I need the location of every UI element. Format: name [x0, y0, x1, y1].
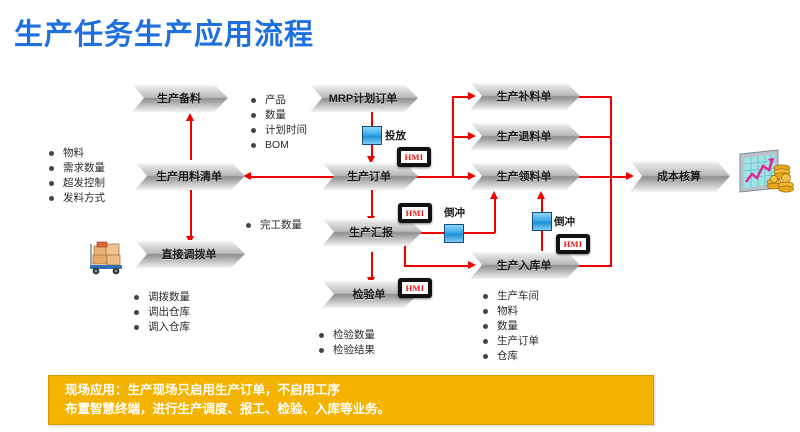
- connector-stockin-out: [578, 265, 612, 267]
- bullets-mrp-attributes: 产品 数量 计划时间 BOM: [250, 93, 307, 153]
- connector-right-bus: [610, 96, 612, 266]
- node-material-list[interactable]: 生产用料清单: [135, 162, 245, 190]
- list-item: 数量: [482, 319, 539, 334]
- hand-truck-boxes-icon: [88, 236, 130, 276]
- list-item: 检验数量: [318, 328, 375, 343]
- list-item: 物料: [482, 304, 539, 319]
- node-mrp-plan-order-label: MRP计划订单: [329, 90, 397, 106]
- hmi-terminal-icon-inspect[interactable]: HMI: [398, 278, 432, 298]
- hmi-label: HMI: [406, 283, 425, 293]
- node-return-form[interactable]: 生产退料单: [470, 122, 580, 150]
- list-item: BOM: [250, 138, 307, 153]
- hmi-terminal-icon-stockin[interactable]: HMI: [556, 234, 590, 254]
- node-production-order-label: 生产订单: [347, 168, 391, 184]
- connector-replenish-out: [578, 96, 612, 98]
- arrowhead-backflush1-to-pick: [490, 191, 498, 199]
- connector-backflush1-right: [462, 232, 495, 234]
- node-inspection-form-label: 检验单: [353, 286, 386, 302]
- arrowhead-bus-to-return: [468, 132, 476, 140]
- connector-bomlist-to-transfer: [190, 190, 192, 238]
- node-production-report-label: 生产汇报: [349, 224, 393, 240]
- slide-canvas: 生产任务生产应用流程 生产备料: [0, 0, 800, 432]
- node-return-form-label: 生产退料单: [497, 128, 552, 144]
- hmi-screen: HMI: [560, 238, 586, 250]
- list-item: 需求数量: [48, 161, 105, 176]
- arrowhead-bus-to-pick: [468, 172, 476, 180]
- node-pick-form[interactable]: 生产领料单: [470, 162, 580, 190]
- node-material-list-label: 生产用料清单: [156, 168, 222, 184]
- node-production-prep-label: 生产备料: [157, 90, 201, 106]
- page-title: 生产任务生产应用流程: [14, 18, 314, 52]
- backflush-label-2: 倒冲: [554, 214, 575, 229]
- hmi-screen: HMI: [402, 282, 428, 294]
- node-cost-accounting[interactable]: 成本核算: [630, 160, 730, 192]
- connector-pick-out: [578, 176, 612, 178]
- list-item: 发料方式: [48, 191, 105, 206]
- bullets-transfer-attributes: 调拨数量 调出仓库 调入仓库: [133, 290, 190, 335]
- list-item: 生产订单: [482, 334, 539, 349]
- node-replenish-form[interactable]: 生产补料单: [470, 82, 580, 110]
- backflush-label-1: 倒冲: [444, 205, 465, 220]
- bullets-material-attributes: 物料 需求数量 超发控制 发料方式: [48, 146, 105, 206]
- hmi-label: HMI: [405, 152, 424, 162]
- connector-return-out: [578, 136, 612, 138]
- connector-inspect-to-stockin: [410, 265, 470, 267]
- node-cost-accounting-label: 成本核算: [657, 168, 701, 184]
- list-item: 调入仓库: [133, 320, 190, 335]
- chart-monitor-coins-icon: [738, 148, 796, 202]
- footer-line-2: 布置智慧终端，进行生产调度、报工、检验、入库等业务。: [49, 400, 653, 419]
- backflush-node-2-icon[interactable]: [532, 212, 552, 231]
- release-node-icon[interactable]: [362, 126, 382, 145]
- bullets-inspection-attributes: 检验数量 检验结果: [318, 328, 375, 358]
- arrowhead-bus-to-cost: [626, 172, 634, 180]
- list-item: 生产车间: [482, 289, 539, 304]
- connector-bomlist-to-prep: [190, 120, 192, 160]
- list-item: 数量: [250, 108, 307, 123]
- list-item: 调出仓库: [133, 305, 190, 320]
- connector-backflush2-up: [541, 198, 543, 212]
- list-item: 超发控制: [48, 176, 105, 191]
- hmi-terminal-icon-order[interactable]: HMI: [397, 147, 431, 167]
- arrowhead-bomlist-to-prep: [186, 113, 194, 121]
- bullets-report-attributes: 完工数量: [245, 218, 302, 233]
- connector-report-to-inspect: [371, 252, 373, 280]
- backflush-node-1-icon[interactable]: [444, 224, 464, 243]
- footer-note-banner: 现场应用：生产现场只启用生产订单，不启用工序 布置智慧终端，进行生产调度、报工、…: [48, 375, 654, 425]
- node-mrp-plan-order[interactable]: MRP计划订单: [310, 84, 418, 112]
- list-item: 计划时间: [250, 123, 307, 138]
- release-label: 投放: [385, 128, 406, 143]
- list-item: 仓库: [482, 349, 539, 364]
- hmi-label: HMI: [564, 239, 583, 249]
- list-item: 产品: [250, 93, 307, 108]
- node-production-prep[interactable]: 生产备料: [132, 84, 228, 112]
- connector-order-to-bomlist: [248, 176, 336, 178]
- footer-line-1: 现场应用：生产现场只启用生产订单，不启用工序: [49, 381, 653, 400]
- connector-backflush1-up: [494, 198, 496, 233]
- list-item: 检验结果: [318, 343, 375, 358]
- list-item: 物料: [48, 146, 105, 161]
- hmi-screen: HMI: [402, 207, 428, 219]
- node-stockin-form-label: 生产入库单: [497, 257, 552, 273]
- node-replenish-form-label: 生产补料单: [497, 88, 552, 104]
- hmi-screen: HMI: [401, 151, 427, 163]
- bullets-stockin-attributes: 生产车间 物料 数量 生产订单 仓库: [482, 289, 539, 364]
- list-item: 完工数量: [245, 218, 302, 233]
- arrowhead-bus-to-replenish: [468, 92, 476, 100]
- hmi-label: HMI: [406, 208, 425, 218]
- node-pick-form-label: 生产领料单: [497, 168, 552, 184]
- hmi-terminal-icon-report[interactable]: HMI: [398, 203, 432, 223]
- connector-order-to-report: [371, 190, 373, 219]
- node-stockin-form[interactable]: 生产入库单: [470, 251, 580, 279]
- arrowhead-backflush2-to-pick: [537, 191, 545, 199]
- connector-mrp-to-release: [371, 112, 373, 126]
- node-direct-transfer[interactable]: 直接调拨单: [135, 240, 245, 268]
- list-item: 调拨数量: [133, 290, 190, 305]
- node-direct-transfer-label: 直接调拨单: [162, 246, 217, 262]
